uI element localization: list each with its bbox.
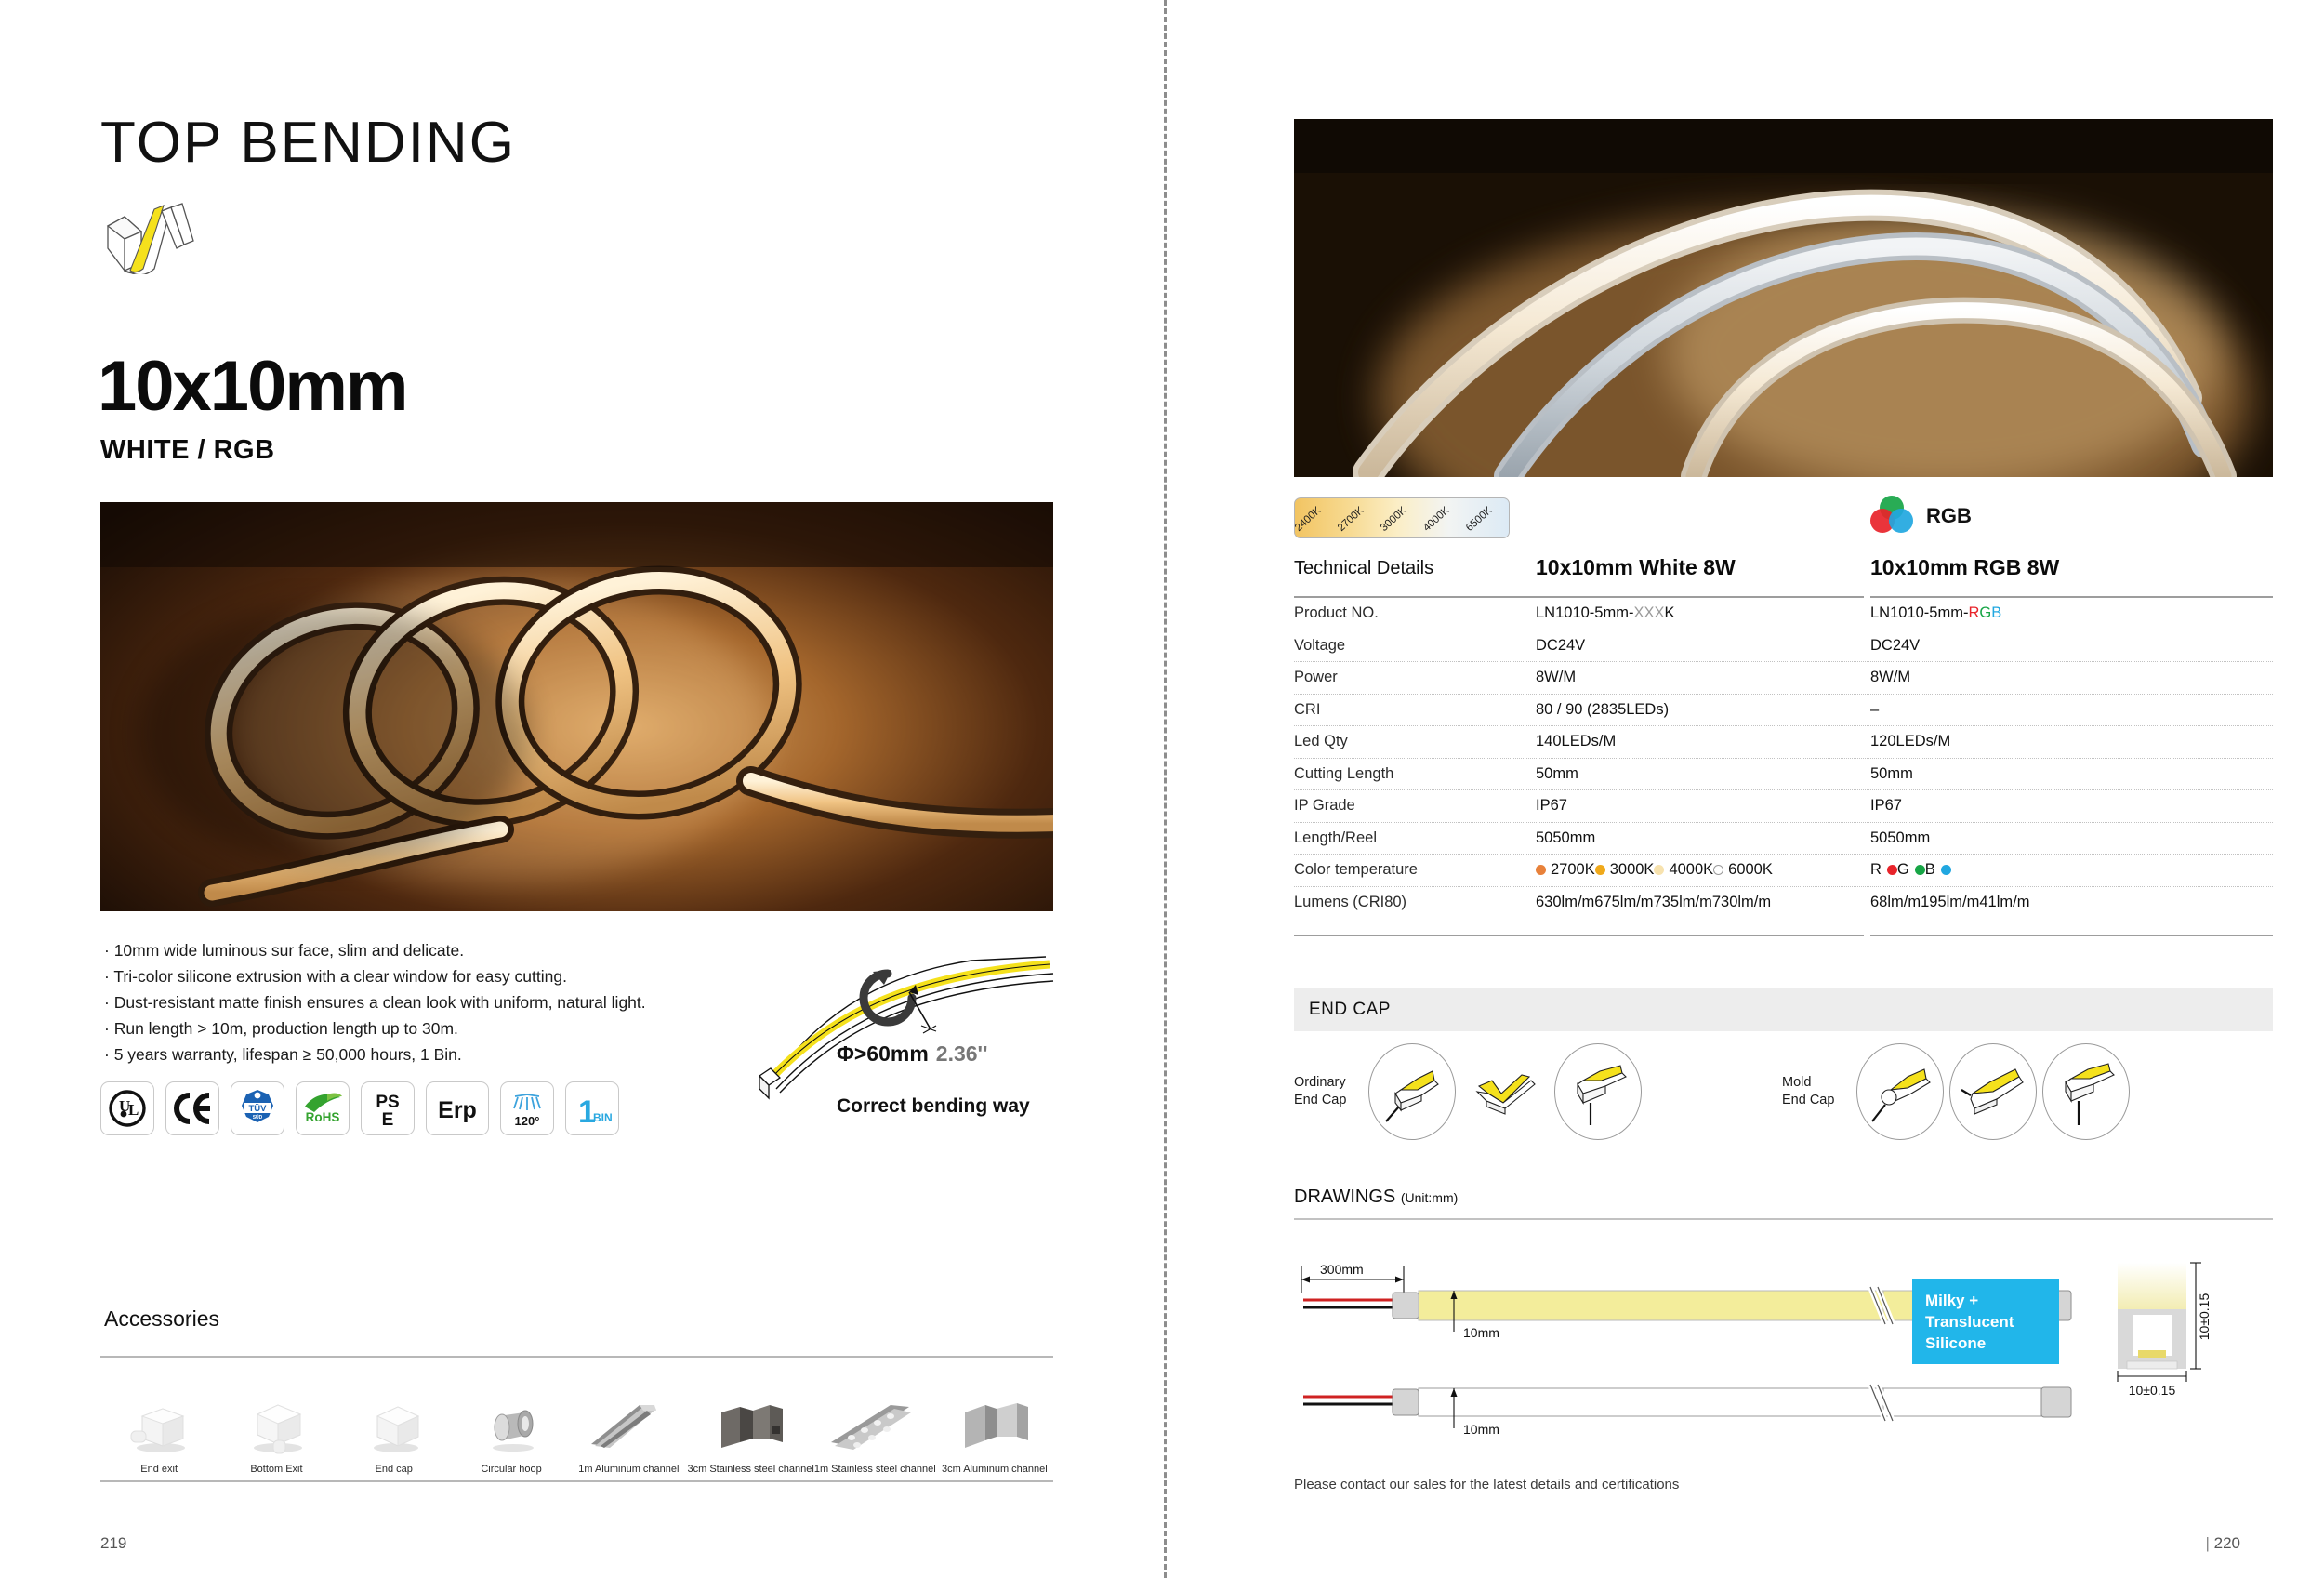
circular-hoop-icon	[453, 1388, 570, 1461]
row-label: CRI	[1294, 701, 1536, 719]
feature-item: 5 years warranty, lifespan ≥ 50,000 hour…	[104, 1041, 773, 1067]
table-row: Product NO. LN1010-5mm-XXXK LN1010-5mm-R…	[1294, 598, 2273, 630]
svg-text:RoHS: RoHS	[306, 1110, 340, 1124]
cct-tick: 3000K	[1379, 505, 1409, 534]
feature-list: 10mm wide luminous sur face, slim and de…	[104, 937, 773, 1067]
product-size: 10x10mm	[98, 346, 407, 427]
row-label: IP Grade	[1294, 797, 1536, 815]
row-value-rgb: DC24V	[1870, 637, 2261, 655]
cct-tick: 6500K	[1464, 505, 1495, 534]
row-value-rgb: IP67	[1870, 797, 2261, 815]
accessory-bottom-exit: Bottom Exit	[218, 1359, 335, 1479]
accessory-label: Bottom Exit	[250, 1464, 302, 1475]
table-row: Led Qty 140LEDs/M 120LEDs/M	[1294, 726, 2273, 759]
lumen-value: 630lm/m	[1536, 894, 1594, 910]
feature-item: 10mm wide luminous sur face, slim and de…	[104, 937, 773, 963]
row-label: Led Qty	[1294, 733, 1536, 750]
endcap-figure-oval	[1949, 1043, 2037, 1140]
correct-bending-diagram	[739, 916, 1055, 1121]
page-title: TOP BENDING	[100, 110, 516, 176]
accessories-divider-top	[100, 1356, 1053, 1358]
milky-translucent-badge: Milky + Translucent Silicone	[1912, 1279, 2059, 1364]
specifications-table: Product NO. LN1010-5mm-XXXK LN1010-5mm-R…	[1294, 598, 2273, 919]
endcap-band-title: END CAP	[1309, 1000, 1391, 1020]
svg-text:SÜD: SÜD	[253, 1114, 263, 1121]
feature-item: Dust-resistant matte finish ensures a cl…	[104, 989, 773, 1015]
row-value-rgb: 50mm	[1870, 765, 2261, 783]
bending-diameter-inches: 2.36''	[936, 1041, 988, 1066]
stainless-channel-1m-icon	[814, 1388, 936, 1461]
feature-item: Tri-color silicone extrusion with a clea…	[104, 963, 773, 989]
accessory-label: End cap	[376, 1464, 413, 1475]
rgb-swatch: G	[1897, 861, 1925, 878]
row-value-white: 8W/M	[1536, 669, 1870, 686]
row-label: Lumens (CRI80)	[1294, 894, 1536, 911]
table-header-label: Technical Details	[1294, 558, 1433, 579]
ul-certification-icon: U L	[100, 1081, 154, 1135]
lumen-value: 735lm/m	[1654, 894, 1712, 910]
ordinary-endcap-label: Ordinary End Cap	[1294, 1074, 1363, 1109]
cct-swatch: 3000K	[1595, 861, 1655, 878]
rgb-chip: RGB	[1870, 496, 1972, 537]
bending-diameter-value: Φ>60mm	[837, 1041, 929, 1066]
row-value-white: 140LEDs/M	[1536, 733, 1870, 750]
lumen-value: 68lm/m	[1870, 894, 1921, 910]
endcap-figure-oval	[1554, 1043, 1642, 1140]
svg-text:E: E	[382, 1110, 394, 1129]
top-bending-icon	[100, 191, 212, 274]
row-value-white: 5050mm	[1536, 829, 1870, 847]
stainless-channel-3cm-icon	[687, 1388, 813, 1461]
row-label: Voltage	[1294, 637, 1536, 655]
page-number-right: 220	[2205, 1534, 2240, 1553]
catalog-spread: TOP BENDING 10x10mm WHITE / RGB	[0, 0, 2324, 1578]
endcap-illustrations: Ordinary End Cap	[1294, 1040, 2273, 1151]
accessory-end-exit: End exit	[100, 1359, 218, 1479]
rgb-swatch: R	[1870, 861, 1897, 878]
beam-angle-icon: 120°	[500, 1081, 554, 1135]
aluminum-channel-3cm-icon	[936, 1388, 1053, 1461]
table-row: Length/Reel 5050mm 5050mm	[1294, 823, 2273, 855]
row-value-rgb: 120LEDs/M	[1870, 733, 2261, 750]
svg-text:BIN: BIN	[593, 1111, 613, 1124]
table-row: IP Grade IP67 IP67	[1294, 790, 2273, 823]
endcap-figure-oval	[2042, 1043, 2130, 1140]
ce-certification-icon	[165, 1081, 219, 1135]
bending-diameter: Φ>60mm2.36''	[837, 1041, 988, 1067]
accessory-end-cap: End cap	[336, 1359, 453, 1479]
row-value-rgb: 8W/M	[1870, 669, 2261, 686]
feature-item: Run length > 10m, production length up t…	[104, 1015, 773, 1041]
end-exit-icon	[100, 1388, 218, 1461]
row-value-white: 2700K3000K4000K6000K	[1536, 861, 1870, 879]
accessory-label: 1m Stainless steel channel	[814, 1464, 936, 1475]
svg-text:120°: 120°	[515, 1114, 540, 1128]
endcap-figure-corner	[1461, 1043, 1549, 1140]
accessory-3cm-stainless-channel: 3cm Stainless steel channel	[687, 1359, 813, 1479]
product-photo-white-coil	[1294, 119, 2273, 477]
row-value-white: IP67	[1536, 797, 1870, 815]
accessory-label: Circular hoop	[481, 1464, 541, 1475]
row-value-white: 630lm/m675lm/m735lm/m730lm/m	[1536, 894, 1870, 911]
row-value-white: DC24V	[1536, 637, 1870, 655]
row-label: Product NO.	[1294, 604, 1536, 622]
ordinary-endcap-group: Ordinary End Cap	[1294, 1043, 1642, 1140]
right-page: 2400K 2700K 3000K 4000K 6500K RGB Techni…	[1164, 0, 2324, 1578]
endcap-band: END CAP	[1294, 988, 2273, 1031]
length-callout-text: 300mm	[1320, 1262, 1364, 1277]
row-label: Power	[1294, 669, 1536, 686]
sales-footnote: Please contact our sales for the latest …	[1294, 1477, 1679, 1492]
mold-endcap-label: Mold End Cap	[1782, 1074, 1851, 1109]
row-label: Length/Reel	[1294, 829, 1536, 847]
row-value-rgb: RGB	[1870, 861, 2261, 879]
tuv-certification-icon: TÜV SÜD	[231, 1081, 284, 1135]
drawings-divider	[1294, 1218, 2273, 1220]
svg-text:TÜV: TÜV	[249, 1104, 268, 1114]
rgb-circles-icon	[1870, 496, 1913, 537]
lumen-value: 730lm/m	[1712, 894, 1771, 910]
table-header-rgb: 10x10mm RGB 8W	[1870, 555, 2059, 580]
row-value-rgb: 5050mm	[1870, 829, 2261, 847]
product-variants: WHITE / RGB	[100, 435, 275, 466]
cross-width-text: 10±0.15	[2129, 1383, 2176, 1398]
cct-tick: 4000K	[1421, 505, 1452, 534]
cct-swatch: 6000K	[1713, 861, 1773, 878]
accessory-label: 1m Aluminum channel	[578, 1464, 679, 1475]
rgb-label: RGB	[1926, 504, 1972, 528]
cross-height-text: 10±0.15	[2197, 1293, 2212, 1341]
table-row: Power 8W/M 8W/M	[1294, 662, 2273, 695]
accessories-divider-bottom	[100, 1480, 1053, 1482]
row-value-white: LN1010-5mm-XXXK	[1536, 604, 1870, 622]
row-label: Cutting Length	[1294, 765, 1536, 783]
table-row: Voltage DC24V DC24V	[1294, 630, 2273, 663]
aluminum-channel-1m-icon	[570, 1388, 687, 1461]
product-photo-warm-coil	[100, 502, 1053, 911]
cct-tick: 2700K	[1336, 505, 1367, 534]
lumen-value: 675lm/m	[1594, 894, 1653, 910]
bottom-exit-icon	[218, 1388, 335, 1461]
end-cap-icon	[336, 1388, 453, 1461]
accessory-label: 3cm Aluminum channel	[942, 1464, 1048, 1475]
row-value-rgb: LN1010-5mm-RGB	[1870, 604, 2261, 622]
mold-endcap-group: Mold End Cap	[1782, 1043, 2130, 1140]
width-top-text: 10mm	[1463, 1325, 1499, 1340]
width-bottom-text: 10mm	[1463, 1422, 1499, 1437]
table-bottom-rule-white	[1294, 935, 1864, 936]
erp-certification-icon: Erp	[426, 1081, 489, 1135]
cct-tick: 2400K	[1294, 505, 1324, 534]
table-row-lumens: Lumens (CRI80) 630lm/m675lm/m735lm/m730l…	[1294, 887, 2273, 920]
accessory-3cm-aluminum-channel: 3cm Aluminum channel	[936, 1359, 1053, 1479]
accessory-label: End exit	[140, 1464, 178, 1475]
certification-badges: U L TÜV SÜD	[100, 1081, 619, 1135]
rgb-swatch: B	[1925, 861, 1951, 878]
accessories-title: Accessories	[104, 1306, 219, 1332]
lumen-value: 195lm/m	[1921, 894, 1979, 910]
endcap-figure-oval	[1368, 1043, 1456, 1140]
accessory-circular-hoop: Circular hoop	[453, 1359, 570, 1479]
drawings-title: DRAWINGS (Unit:mm)	[1294, 1187, 1458, 1208]
bending-caption: Correct bending way	[837, 1095, 1030, 1118]
table-row: Cutting Length 50mm 50mm	[1294, 759, 2273, 791]
technical-drawings: 300mm 10mm	[1294, 1237, 2273, 1451]
one-bin-icon: 1 BIN	[565, 1081, 619, 1135]
cct-gradient-chip: 2400K 2700K 3000K 4000K 6500K	[1294, 497, 1510, 538]
row-value-rgb: 68lm/m195lm/m41lm/m	[1870, 894, 2261, 911]
table-header-white: 10x10mm White 8W	[1536, 555, 1736, 580]
svg-text:PS: PS	[376, 1093, 399, 1112]
cct-swatch: 2700K	[1536, 861, 1595, 878]
row-value-white: 80 / 90 (2835LEDs)	[1536, 701, 1870, 719]
table-row-color-temperature: Color temperature 2700K3000K4000K6000K R…	[1294, 855, 2273, 887]
svg-text:Erp: Erp	[438, 1097, 477, 1123]
row-label: Color temperature	[1294, 861, 1536, 879]
lumen-value: 41lm/m	[1979, 894, 2029, 910]
accessories-row: End exit Bottom Exit	[100, 1359, 1053, 1479]
accessory-1m-aluminum-channel: 1m Aluminum channel	[570, 1359, 687, 1479]
left-page: TOP BENDING 10x10mm WHITE / RGB	[0, 0, 1164, 1578]
table-bottom-rule-rgb	[1870, 935, 2273, 936]
accessory-label: 3cm Stainless steel channel	[687, 1464, 813, 1475]
row-value-white: 50mm	[1536, 765, 1870, 783]
pse-certification-icon: PS E	[361, 1081, 415, 1135]
rohs-certification-icon: RoHS	[296, 1081, 350, 1135]
table-row: CRI 80 / 90 (2835LEDs) –	[1294, 695, 2273, 727]
accessory-1m-stainless-channel: 1m Stainless steel channel	[814, 1359, 936, 1479]
svg-text:L: L	[128, 1101, 139, 1119]
cct-swatch: 4000K	[1654, 861, 1713, 878]
row-value-rgb: –	[1870, 701, 2261, 719]
page-number-left: 219	[100, 1534, 126, 1553]
endcap-figure-oval	[1856, 1043, 1944, 1140]
